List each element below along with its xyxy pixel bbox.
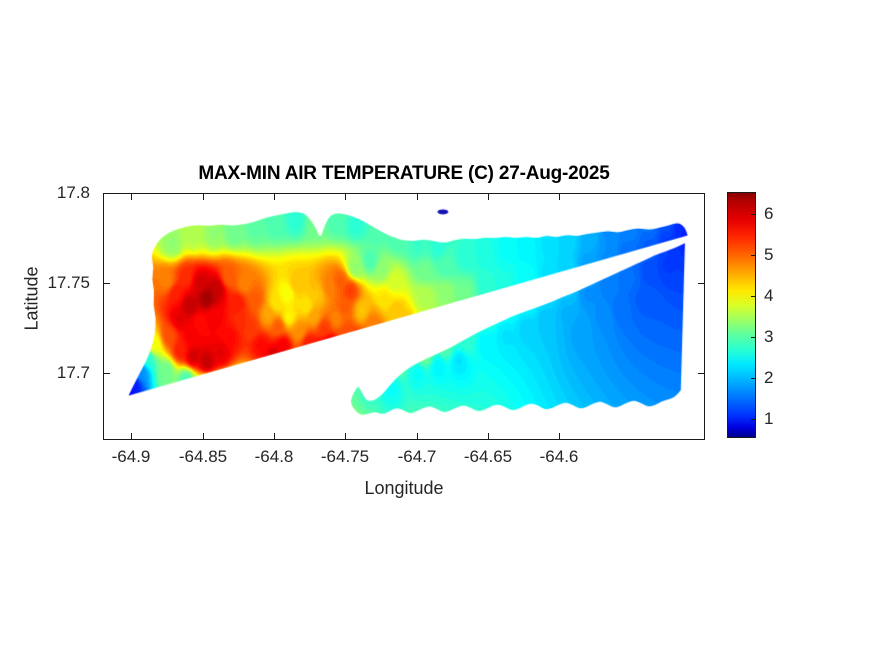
map-axes[interactable] [103, 193, 705, 440]
xtick-mark [559, 433, 560, 440]
xtick-mark [274, 433, 275, 440]
colorbar-label: 1 [764, 409, 773, 429]
colorbar-label: 2 [764, 368, 773, 388]
ytick-label: 17.8 [57, 183, 90, 203]
xtick-mark [488, 193, 489, 200]
xtick-mark [131, 433, 132, 440]
xtick-label: -64.65 [464, 447, 512, 467]
ytick-label: 17.7 [57, 363, 90, 383]
ytick-mark [698, 373, 705, 374]
xtick-mark [417, 433, 418, 440]
xtick-label: -64.7 [398, 447, 437, 467]
xtick-label: -64.85 [179, 447, 227, 467]
ytick-label: 17.75 [47, 273, 90, 293]
ytick-mark [103, 193, 110, 194]
colorbar-tick [751, 214, 756, 215]
colorbar-tick [751, 255, 756, 256]
xtick-mark [131, 193, 132, 200]
temperature-heatmap [104, 194, 704, 439]
colorbar[interactable] [727, 192, 756, 438]
figure-canvas: MAX-MIN AIR TEMPERATURE (C) 27-Aug-2025 … [0, 0, 875, 656]
colorbar-tick [751, 337, 756, 338]
x-axis-label: Longitude [103, 478, 705, 499]
xtick-mark [274, 193, 275, 200]
colorbar-tick [751, 378, 756, 379]
xtick-mark [203, 193, 204, 200]
colorbar-label: 4 [764, 286, 773, 306]
xtick-mark [488, 433, 489, 440]
xtick-label: -64.6 [540, 447, 579, 467]
xtick-mark [345, 433, 346, 440]
y-axis-label: Latitude [22, 239, 43, 359]
ytick-mark [698, 283, 705, 284]
xtick-mark [559, 193, 560, 200]
xtick-mark [345, 193, 346, 200]
xtick-label: -64.8 [255, 447, 294, 467]
colorbar-label: 6 [764, 204, 773, 224]
colorbar-gradient [727, 192, 756, 438]
colorbar-tick [751, 296, 756, 297]
colorbar-label: 3 [764, 327, 773, 347]
xtick-mark [417, 193, 418, 200]
ytick-mark [103, 373, 110, 374]
xtick-label: -64.75 [321, 447, 369, 467]
ytick-mark [103, 283, 110, 284]
page-title: MAX-MIN AIR TEMPERATURE (C) 27-Aug-2025 [103, 163, 705, 185]
colorbar-label: 5 [764, 245, 773, 265]
colorbar-tick [751, 419, 756, 420]
xtick-mark [203, 433, 204, 440]
xtick-label: -64.9 [112, 447, 151, 467]
